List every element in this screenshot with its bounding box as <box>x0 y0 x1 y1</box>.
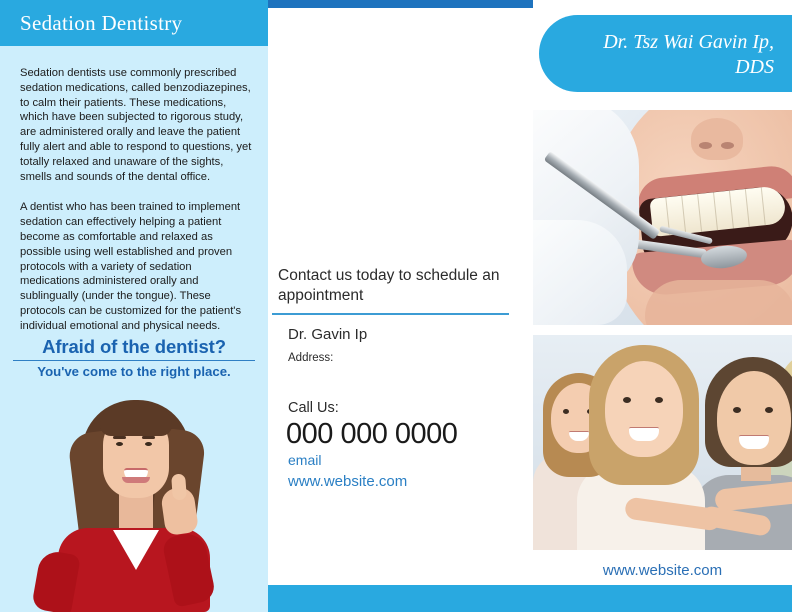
mother-eye-right <box>655 397 663 403</box>
happy-family-photo <box>533 335 792 550</box>
father-smile <box>739 435 769 449</box>
call-us-label: Call Us: <box>288 400 339 416</box>
left-panel-header-band: Sedation Dentistry <box>0 0 268 46</box>
callout-subheadline: You've come to the right place. <box>13 364 255 379</box>
middle-panel-bottom-bar <box>268 585 533 612</box>
email-link[interactable]: email <box>288 452 321 468</box>
right-panel: Dr. Tsz Wai Gavin Ip, DDS <box>533 0 792 612</box>
dental-examination-photo <box>533 110 792 325</box>
mother-head <box>605 361 683 457</box>
phone-number[interactable]: 000 000 0000 <box>286 418 457 451</box>
father-head <box>717 371 791 465</box>
page-title: Sedation Dentistry <box>20 11 182 36</box>
father-eye-right <box>765 407 773 413</box>
callout-divider <box>13 360 255 361</box>
patient-nostril-left <box>699 142 712 149</box>
woman-eye-left <box>116 442 123 446</box>
callout-block: Afraid of the dentist? You've come to th… <box>13 336 255 379</box>
website-link-middle[interactable]: www.website.com <box>288 473 407 490</box>
mother-smile <box>629 427 659 441</box>
patient-nose <box>691 118 743 160</box>
patient-nostril-right <box>721 142 734 149</box>
middle-panel-top-bar <box>268 0 533 8</box>
middle-panel: Contact us today to schedule an appointm… <box>268 0 533 612</box>
smiling-woman-thumbs-up-photo <box>0 392 268 612</box>
right-panel-bottom-bar <box>533 585 792 612</box>
doctor-name: Dr. Gavin Ip <box>288 326 367 343</box>
body-paragraph-2: A dentist who has been trained to implem… <box>20 200 252 333</box>
girl-eye-left <box>563 409 569 414</box>
doctor-name-banner-text: Dr. Tsz Wai Gavin Ip, DDS <box>564 30 774 80</box>
callout-headline: Afraid of the dentist? <box>13 336 255 358</box>
left-panel: Sedation Dentistry Sedation dentists use… <box>0 0 268 612</box>
woman-eyebrow-left <box>113 436 126 439</box>
father-eye-left <box>733 407 741 413</box>
trifold-brochure: Sedation Dentistry Sedation dentists use… <box>0 0 792 612</box>
thumbs-up-icon <box>171 474 187 501</box>
dentist-glove-lower <box>533 220 627 325</box>
woman-eyebrow-right <box>142 436 155 439</box>
patient-chin <box>645 280 792 325</box>
body-paragraph-1: Sedation dentists use commonly prescribe… <box>20 66 252 184</box>
contact-heading: Contact us today to schedule an appointm… <box>278 266 518 306</box>
mother-eye-left <box>623 397 631 403</box>
left-panel-body: Sedation dentists use commonly prescribe… <box>20 66 252 350</box>
woman-fringe <box>100 406 172 436</box>
website-link-right[interactable]: www.website.com <box>533 562 792 579</box>
contact-divider <box>272 313 509 315</box>
doctor-name-banner: Dr. Tsz Wai Gavin Ip, DDS <box>539 15 792 92</box>
woman-eye-right <box>145 442 152 446</box>
woman-lower-lip <box>122 477 150 483</box>
address-label: Address: <box>288 352 333 364</box>
